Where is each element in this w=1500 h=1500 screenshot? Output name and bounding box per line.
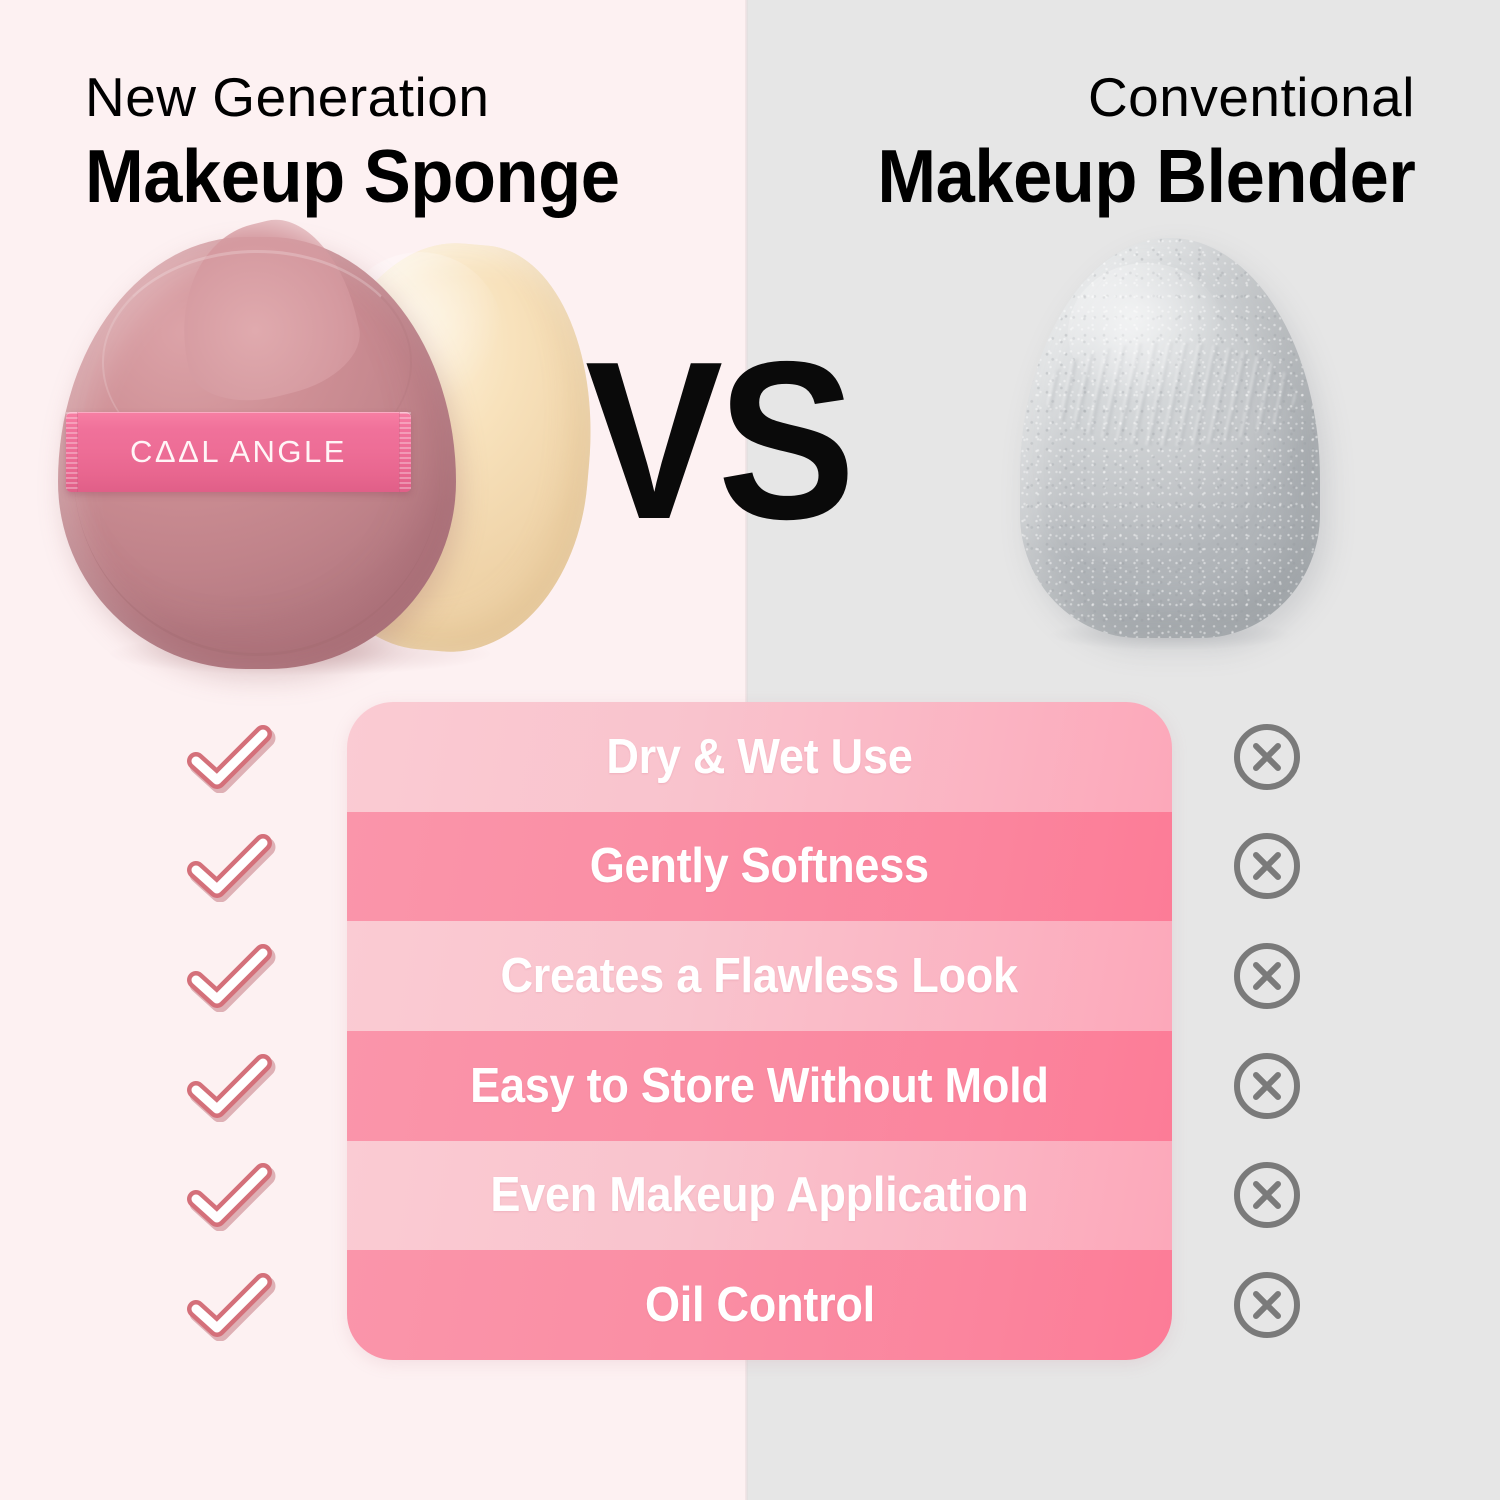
left-panel-heading: New Generation Makeup Sponge: [85, 70, 654, 214]
circle-x-icon: [1230, 1158, 1304, 1232]
right-title-text: Makeup Blender: [877, 139, 1415, 214]
check-icon-column: [160, 702, 300, 1360]
brand-ribbon-label: CΔΔL ANGLE: [66, 412, 411, 492]
feature-list-card: Dry & Wet Use Gently Softness Creates a …: [347, 702, 1172, 1360]
feature-label: Easy to Store Without Mold: [470, 1058, 1048, 1114]
check-icon-slot: [160, 1250, 300, 1360]
check-icon: [184, 1159, 276, 1231]
left-eyebrow-text: New Generation: [85, 70, 654, 125]
feature-row: Even Makeup Application: [347, 1141, 1172, 1251]
feature-row: Gently Softness: [347, 812, 1172, 922]
cross-icon-slot: [1197, 1031, 1337, 1141]
versus-label: VS: [585, 328, 850, 553]
cross-icon-slot: [1197, 921, 1337, 1031]
circle-x-icon: [1230, 1049, 1304, 1123]
circle-x-icon: [1230, 829, 1304, 903]
check-icon-slot: [160, 1031, 300, 1141]
infographic-canvas: New Generation Makeup Sponge Conventiona…: [0, 0, 1500, 1500]
feature-label: Dry & Wet Use: [606, 729, 912, 785]
check-icon: [184, 721, 276, 793]
cross-icon-column: [1197, 702, 1337, 1360]
check-icon: [184, 940, 276, 1012]
check-icon-slot: [160, 921, 300, 1031]
check-icon: [184, 830, 276, 902]
cross-icon-slot: [1197, 702, 1337, 812]
cross-icon-slot: [1197, 1250, 1337, 1360]
peach-sponge-image: CΔΔL ANGLE: [40, 225, 600, 680]
circle-x-icon: [1230, 939, 1304, 1013]
check-icon: [184, 1269, 276, 1341]
circle-x-icon: [1230, 720, 1304, 794]
left-title-text: Makeup Sponge: [85, 139, 619, 214]
blender-highlight: [1068, 263, 1224, 402]
right-eyebrow-text: Conventional: [843, 70, 1415, 125]
circle-x-icon: [1230, 1268, 1304, 1342]
feature-label: Creates a Flawless Look: [501, 948, 1018, 1004]
feature-row: Easy to Store Without Mold: [347, 1031, 1172, 1141]
check-icon: [184, 1050, 276, 1122]
check-icon-slot: [160, 1141, 300, 1251]
brand-name-text: CΔΔL ANGLE: [130, 434, 347, 470]
check-icon-slot: [160, 812, 300, 922]
feature-label: Even Makeup Application: [490, 1167, 1028, 1223]
cross-icon-slot: [1197, 1141, 1337, 1251]
check-icon-slot: [160, 702, 300, 812]
feature-label: Gently Softness: [590, 838, 929, 894]
gray-blender-image: [1020, 238, 1320, 648]
feature-row: Dry & Wet Use: [347, 702, 1172, 812]
cross-icon-slot: [1197, 812, 1337, 922]
feature-label: Oil Control: [645, 1277, 875, 1333]
feature-row: Creates a Flawless Look: [347, 921, 1172, 1031]
feature-row: Oil Control: [347, 1250, 1172, 1360]
right-panel-heading: Conventional Makeup Blender: [843, 70, 1415, 214]
